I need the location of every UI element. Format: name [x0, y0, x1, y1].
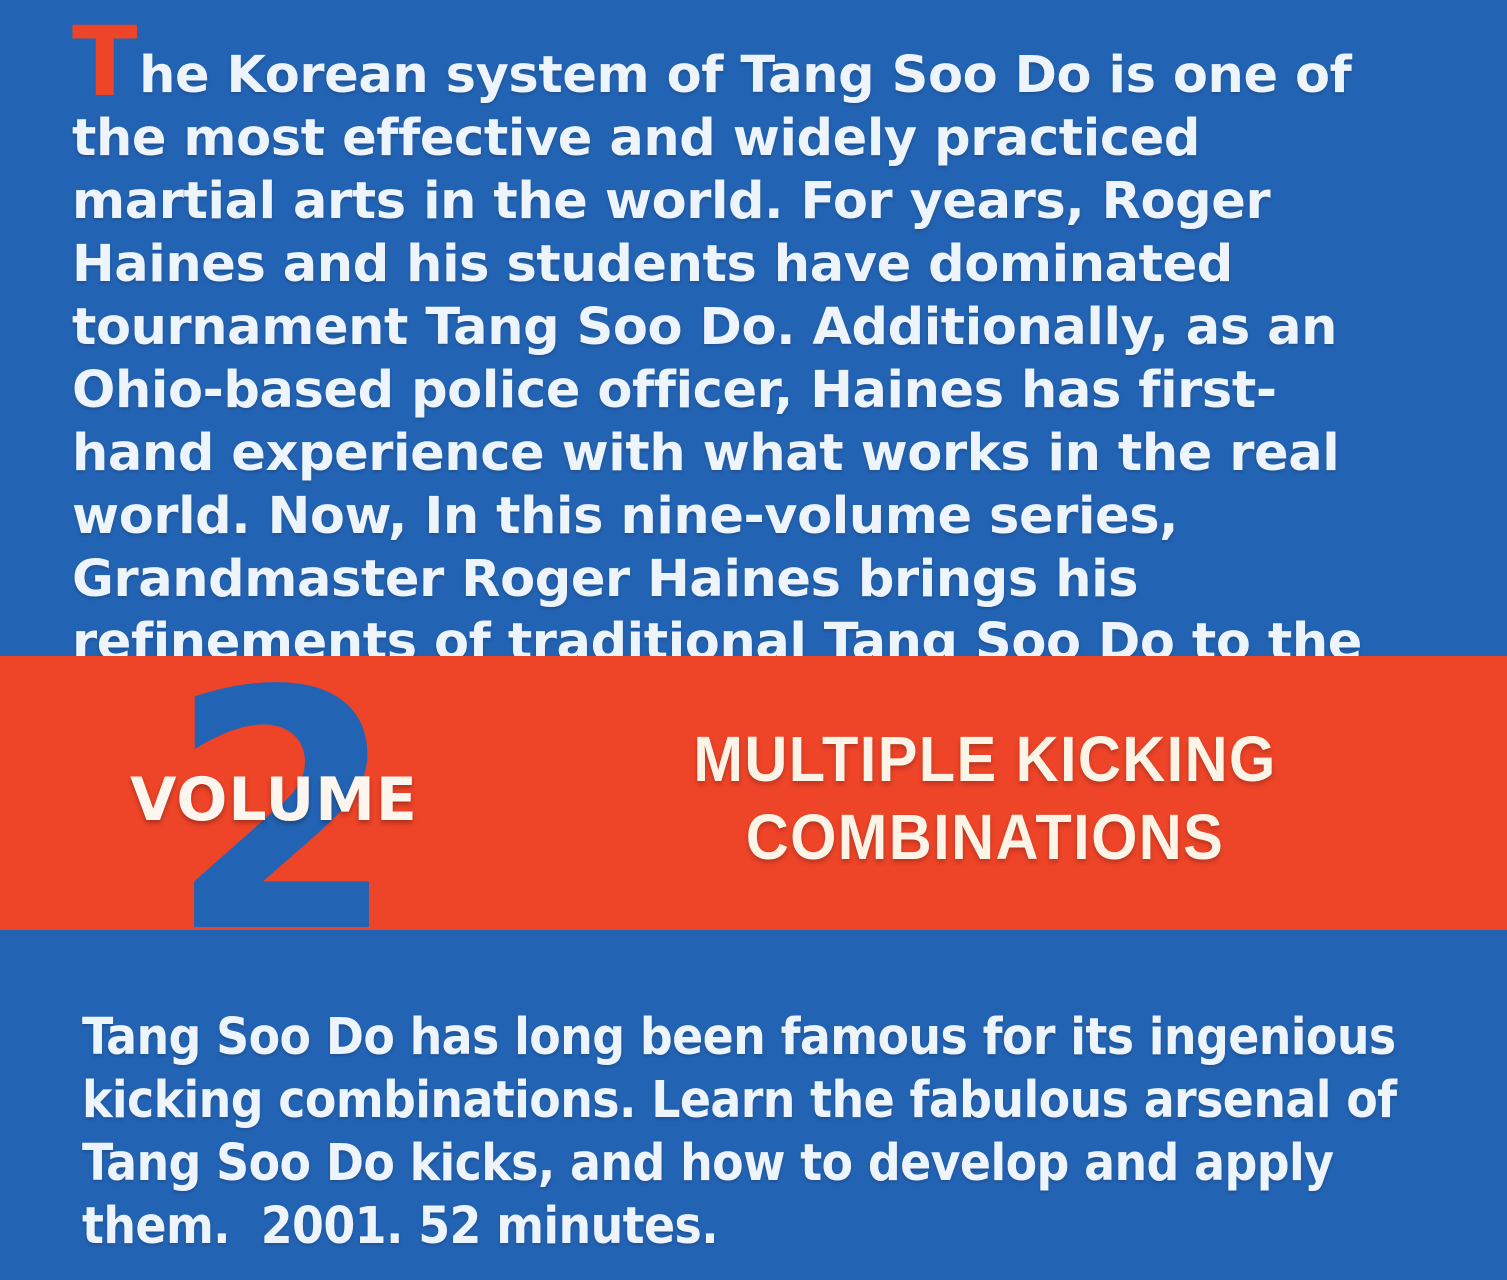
description-section: Tang Soo Do has long been famous for its…	[0, 930, 1507, 1280]
description-paragraph: Tang Soo Do has long been famous for its…	[82, 1006, 1432, 1258]
volume-title-line-2: COMBINATIONS	[627, 798, 1343, 876]
intro-paragraph-body: he Korean system of Tang Soo Do is one o…	[72, 46, 1362, 735]
intro-paragraph: The Korean system of Tang Soo Do is one …	[72, 44, 1412, 737]
volume-title: MULTIPLE KICKING COMBINATIONS	[627, 720, 1343, 876]
intro-section: The Korean system of Tang Soo Do is one …	[0, 0, 1507, 656]
drop-cap-letter: T	[72, 26, 137, 98]
video-volume-info-card: The Korean system of Tang Soo Do is one …	[0, 0, 1507, 1280]
volume-label: VOLUME	[130, 768, 418, 832]
volume-title-line-1: MULTIPLE KICKING	[627, 720, 1343, 798]
